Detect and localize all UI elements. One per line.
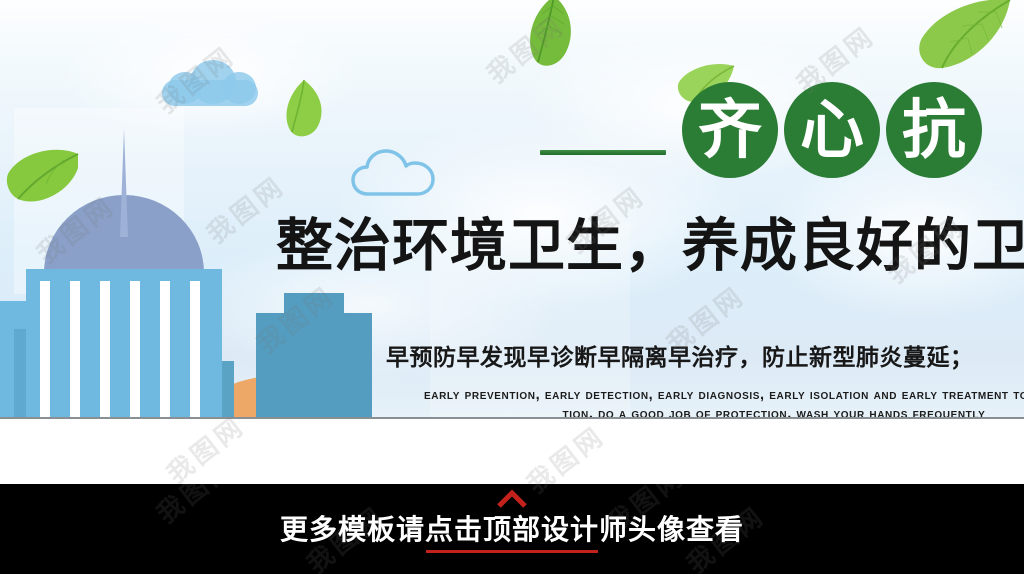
- bottom-promo-bar[interactable]: 更多模板请点击顶部设计师头像查看: [0, 484, 1024, 574]
- english-line-1: Early prevention, early detection, early…: [424, 386, 1024, 405]
- poster-image[interactable]: 齐 心 抗 整治环境卫生，养成良好的卫生习惯 早预防早发现早诊断早隔离早治疗，防…: [0, 0, 1024, 419]
- slogan-badge: 齐: [682, 82, 778, 178]
- poster-english-text: Early prevention, early detection, early…: [424, 386, 1024, 419]
- leaf-icon: [524, 0, 576, 72]
- slogan-badge: 心: [784, 82, 880, 178]
- poster-headline: 整治环境卫生，养成良好的卫生习惯: [276, 214, 1024, 280]
- slogan-badge-group: 齐 心 抗: [540, 78, 988, 182]
- promo-underline: [426, 550, 598, 553]
- slogan-badge: 抗: [886, 82, 982, 178]
- screenshot-root: 齐 心 抗 整治环境卫生，养成良好的卫生习惯 早预防早发现早诊断早隔离早治疗，防…: [0, 0, 1024, 574]
- leaf-icon: [916, 0, 1012, 72]
- green-divider-line: [540, 150, 666, 155]
- promo-text: 更多模板请点击顶部设计师头像查看: [0, 508, 1024, 548]
- english-line-2: tion, do a good job of protection, wash …: [424, 405, 1024, 419]
- cloud-filled-icon: [162, 60, 258, 106]
- white-separator: [0, 419, 1024, 484]
- poster-subheadline: 早预防早发现早诊断早隔离早治疗，防止新型肺炎蔓延；: [386, 338, 974, 372]
